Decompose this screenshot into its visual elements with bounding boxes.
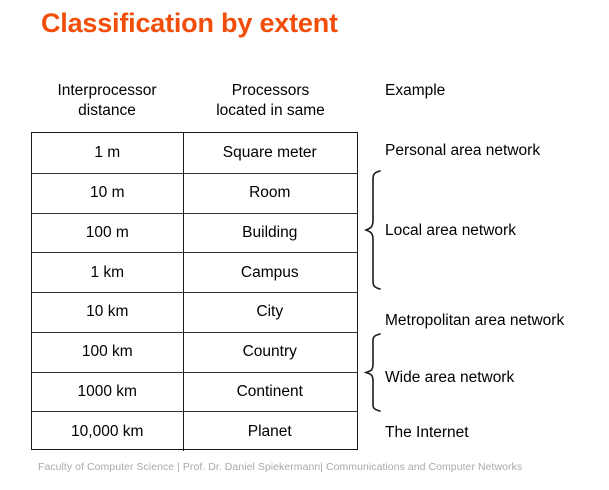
- column-header-processors-located-in-same: Processors located in same: [183, 81, 358, 121]
- cell-distance: 1 km: [32, 253, 183, 292]
- cell-location: Campus: [183, 253, 357, 292]
- cell-distance: 1 m: [32, 133, 183, 173]
- table-row: 100 km Country: [32, 332, 357, 372]
- column-header-processors-line1: Processors: [183, 81, 358, 101]
- cell-distance: 10 m: [32, 174, 183, 213]
- table-row: 1 m Square meter: [32, 133, 357, 173]
- column-header-distance-line1: Interprocessor: [31, 81, 183, 101]
- slide-footer: Faculty of Computer Science | Prof. Dr. …: [38, 461, 522, 473]
- cell-location: Square meter: [183, 133, 357, 173]
- column-header-distance-line2: distance: [31, 101, 183, 121]
- cell-location: Building: [183, 214, 357, 253]
- cell-location: Room: [183, 174, 357, 213]
- cell-location: City: [183, 293, 357, 332]
- cell-location: Continent: [183, 373, 357, 412]
- brace-local-area-network-icon: [364, 170, 384, 290]
- cell-distance: 100 m: [32, 214, 183, 253]
- column-header-processors-line2: located in same: [183, 101, 358, 121]
- example-label-personal-area-network: Personal area network: [385, 142, 540, 160]
- cell-location: Country: [183, 333, 357, 372]
- page-title: Classification by extent: [41, 8, 338, 39]
- table-row: 10 km City: [32, 292, 357, 332]
- example-label-the-internet: The Internet: [385, 424, 469, 442]
- column-header-interprocessor-distance: Interprocessor distance: [31, 81, 183, 121]
- table-row: 1000 km Continent: [32, 372, 357, 412]
- cell-location: Planet: [183, 412, 357, 451]
- cell-distance: 1000 km: [32, 373, 183, 412]
- table-row: 1 km Campus: [32, 252, 357, 292]
- brace-wide-area-network-icon: [364, 333, 384, 412]
- example-label-wide-area-network: Wide area network: [385, 369, 514, 387]
- example-label-local-area-network: Local area network: [385, 222, 516, 240]
- cell-distance: 10,000 km: [32, 412, 183, 451]
- table-row: 10 m Room: [32, 173, 357, 213]
- example-label-metropolitan-area-network: Metropolitan area network: [385, 312, 564, 330]
- cell-distance: 10 km: [32, 293, 183, 332]
- classification-table: 1 m Square meter 10 m Room 100 m Buildin…: [31, 132, 358, 450]
- cell-distance: 100 km: [32, 333, 183, 372]
- slide-canvas: Classification by extent Interprocessor …: [0, 0, 609, 490]
- table-row: 100 m Building: [32, 213, 357, 253]
- table-row: 10,000 km Planet: [32, 411, 357, 451]
- column-header-example: Example: [385, 81, 565, 101]
